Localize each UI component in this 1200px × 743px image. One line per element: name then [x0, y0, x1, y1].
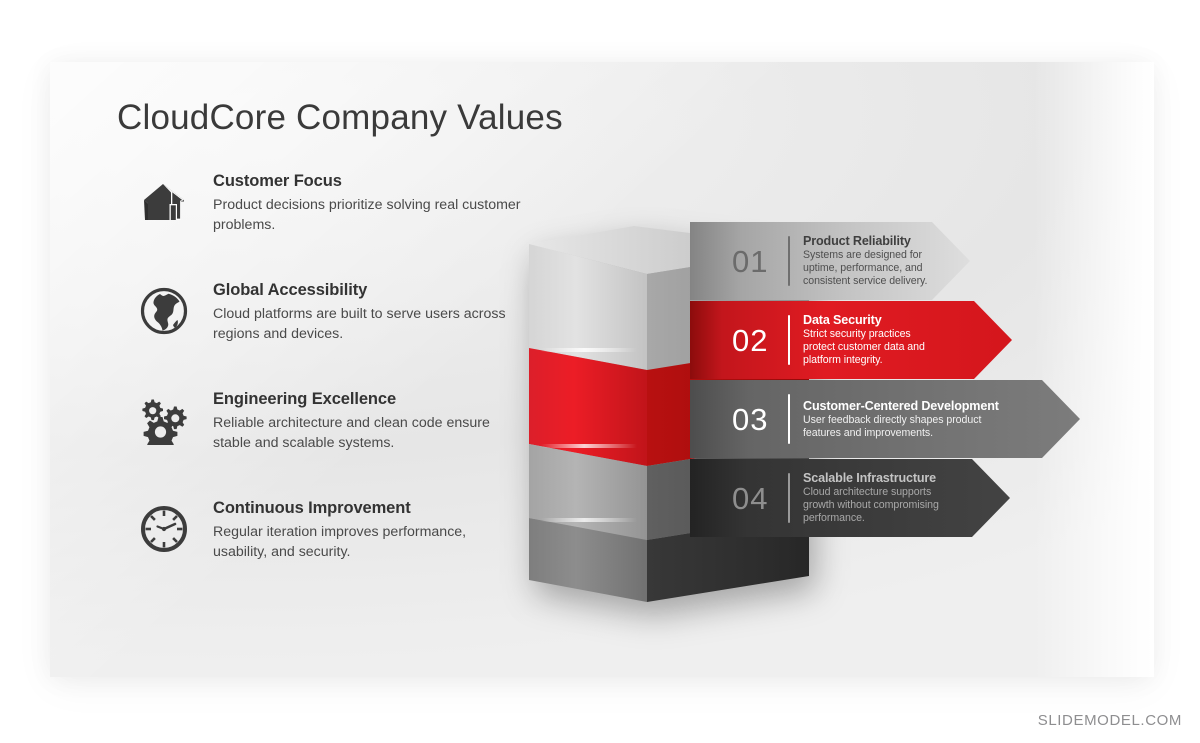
values-list: Customer Focus Product decisions priorit… [128, 172, 528, 608]
value-item-continuous-improvement[interactable]: Continuous Improvement Regular iteration… [128, 499, 528, 608]
value-text: Engineering Excellence Reliable architec… [213, 390, 523, 453]
value-text: Continuous Improvement Regular iteration… [213, 499, 523, 562]
band-content: 01 Product Reliability Systems are desig… [690, 222, 961, 300]
band-divider [788, 473, 790, 523]
value-item-global-accessibility[interactable]: Global Accessibility Cloud platforms are… [128, 281, 528, 390]
value-title: Engineering Excellence [213, 390, 523, 408]
band-text: Scalable Infrastructure Cloud architectu… [803, 471, 965, 524]
value-description: Reliable architecture and clean code ens… [213, 413, 523, 453]
value-description: Product decisions prioritize solving rea… [213, 195, 523, 235]
band-text: Product Reliability Systems are designed… [803, 234, 961, 287]
value-title: Continuous Improvement [213, 499, 523, 517]
page-title: CloudCore Company Values [117, 98, 563, 138]
clock-icon [136, 501, 192, 557]
band-text: Customer-Centered Development User feedb… [803, 399, 1013, 440]
band-divider [788, 236, 790, 286]
band-divider [788, 394, 790, 444]
globe-icon [136, 283, 192, 339]
value-text: Customer Focus Product decisions priorit… [213, 172, 523, 235]
band-content: 02 Data Security Strict security practic… [690, 301, 953, 379]
value-description: Cloud platforms are built to serve users… [213, 304, 523, 344]
band-number: 04 [732, 483, 786, 514]
band-body: Cloud architecture supports growth witho… [803, 486, 955, 524]
value-text: Global Accessibility Cloud platforms are… [213, 281, 523, 344]
gears-icon [136, 392, 192, 448]
value-item-engineering-excellence[interactable]: Engineering Excellence Reliable architec… [128, 390, 528, 499]
band-heading: Scalable Infrastructure [803, 471, 955, 485]
band-04[interactable]: 04 Scalable Infrastructure Cloud archite… [690, 459, 1010, 537]
arrow-bands-group: 01 Product Reliability Systems are desig… [690, 222, 1160, 612]
band-body: Strict security practices protect custom… [803, 328, 943, 366]
band-number: 03 [732, 404, 786, 435]
band-content: 04 Scalable Infrastructure Cloud archite… [690, 459, 965, 537]
band-number: 01 [732, 246, 786, 277]
value-item-customer-focus[interactable]: Customer Focus Product decisions priorit… [128, 172, 528, 281]
band-heading: Data Security [803, 313, 943, 327]
band-body: Systems are designed for uptime, perform… [803, 249, 951, 287]
band-number: 02 [732, 325, 786, 356]
slide-canvas: CloudCore Company Values Customer Focus … [50, 62, 1152, 677]
footer-brand: SLIDEMODEL.COM [1038, 712, 1182, 729]
band-text: Data Security Strict security practices … [803, 313, 953, 366]
band-divider [788, 315, 790, 365]
value-title: Global Accessibility [213, 281, 523, 299]
band-03[interactable]: 03 Customer-Centered Development User fe… [690, 380, 1080, 458]
band-02[interactable]: 02 Data Security Strict security practic… [690, 301, 1012, 379]
band-body: User feedback directly shapes product fe… [803, 414, 1003, 439]
band-content: 03 Customer-Centered Development User fe… [690, 380, 1013, 458]
value-description: Regular iteration improves performance, … [213, 522, 523, 562]
house-icon [136, 174, 192, 230]
value-title: Customer Focus [213, 172, 523, 190]
band-heading: Product Reliability [803, 234, 951, 248]
band-heading: Customer-Centered Development [803, 399, 1003, 413]
band-01[interactable]: 01 Product Reliability Systems are desig… [690, 222, 970, 300]
